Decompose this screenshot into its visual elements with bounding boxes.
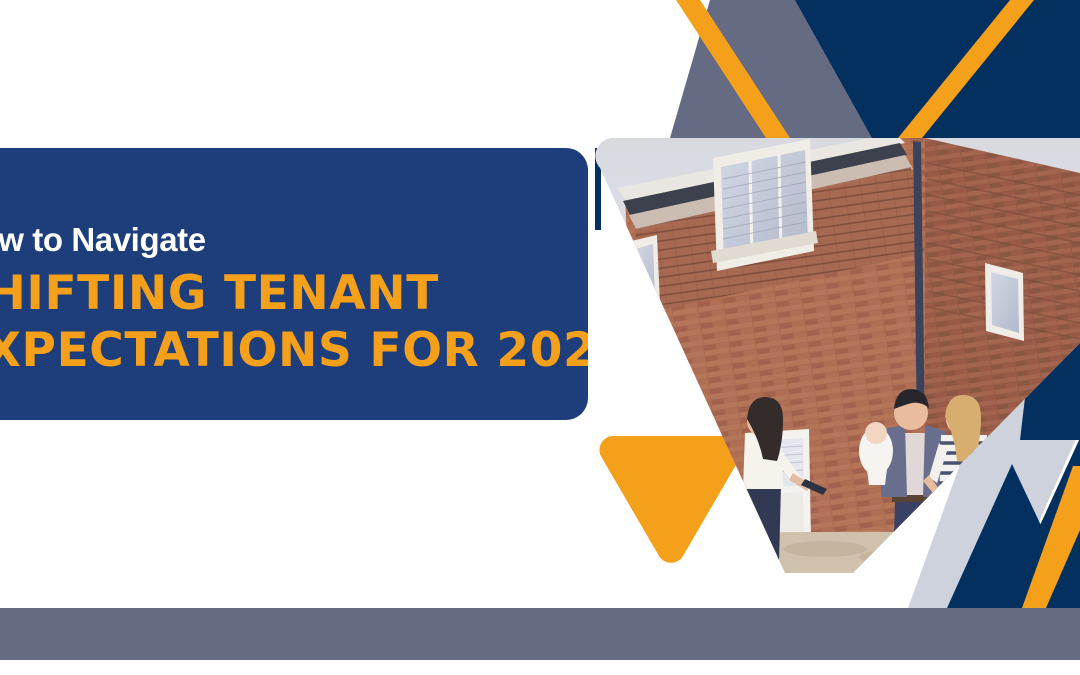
bottom-slate-bar [0, 608, 1080, 660]
orange-stripe-left [676, 0, 790, 138]
banner-canvas: How to Navigate SHIFTING TENANT EXPECTAT… [0, 0, 1080, 675]
bottom-white-strip [0, 660, 1080, 675]
slate-chevron-top [670, 0, 872, 138]
headline-card: How to Navigate SHIFTING TENANT EXPECTAT… [0, 148, 588, 420]
headline-inner: How to Navigate SHIFTING TENANT EXPECTAT… [0, 148, 588, 420]
hero-photo [595, 133, 1080, 573]
headline-line-2: EXPECTATIONS FOR 2026 [0, 327, 588, 374]
navy-block-top-right [790, 0, 1080, 138]
orange-stripe-right [898, 0, 1034, 138]
headline-line-1: SHIFTING TENANT [0, 270, 439, 317]
eyebrow-text: How to Navigate [0, 223, 206, 256]
